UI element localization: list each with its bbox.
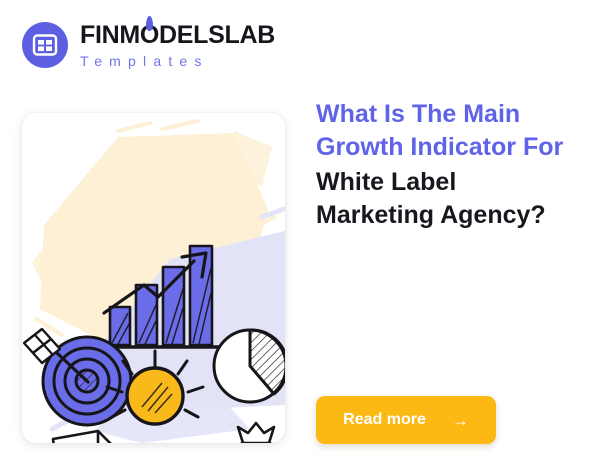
- droplet-icon: [146, 16, 153, 31]
- pie-chart-illustration: [214, 330, 285, 402]
- promo-banner: FINMODELSLAB Templates: [0, 0, 600, 464]
- growth-concept-illustration: $: [22, 113, 285, 443]
- brand-mark: [22, 22, 68, 68]
- read-more-button[interactable]: Read more →: [316, 396, 496, 444]
- illustration-card: $: [22, 113, 285, 443]
- brand-logo[interactable]: FINMODELSLAB Templates: [22, 22, 275, 68]
- headline-block: What Is The Main Growth Indicator For Wh…: [316, 98, 578, 232]
- arrow-right-icon: →: [452, 412, 469, 429]
- headline-primary: What Is The Main Growth Indicator For: [316, 98, 578, 164]
- brand-tagline: Templates: [80, 54, 275, 68]
- headline-secondary: White Label Marketing Agency?: [316, 164, 578, 232]
- brand-name-label: FINMODELSLAB: [80, 21, 275, 49]
- brand-text: FINMODELSLAB Templates: [80, 23, 275, 68]
- read-more-label: Read more: [343, 411, 426, 429]
- brand-name: FINMODELSLAB: [80, 23, 275, 48]
- grid-squares-icon: [32, 32, 58, 58]
